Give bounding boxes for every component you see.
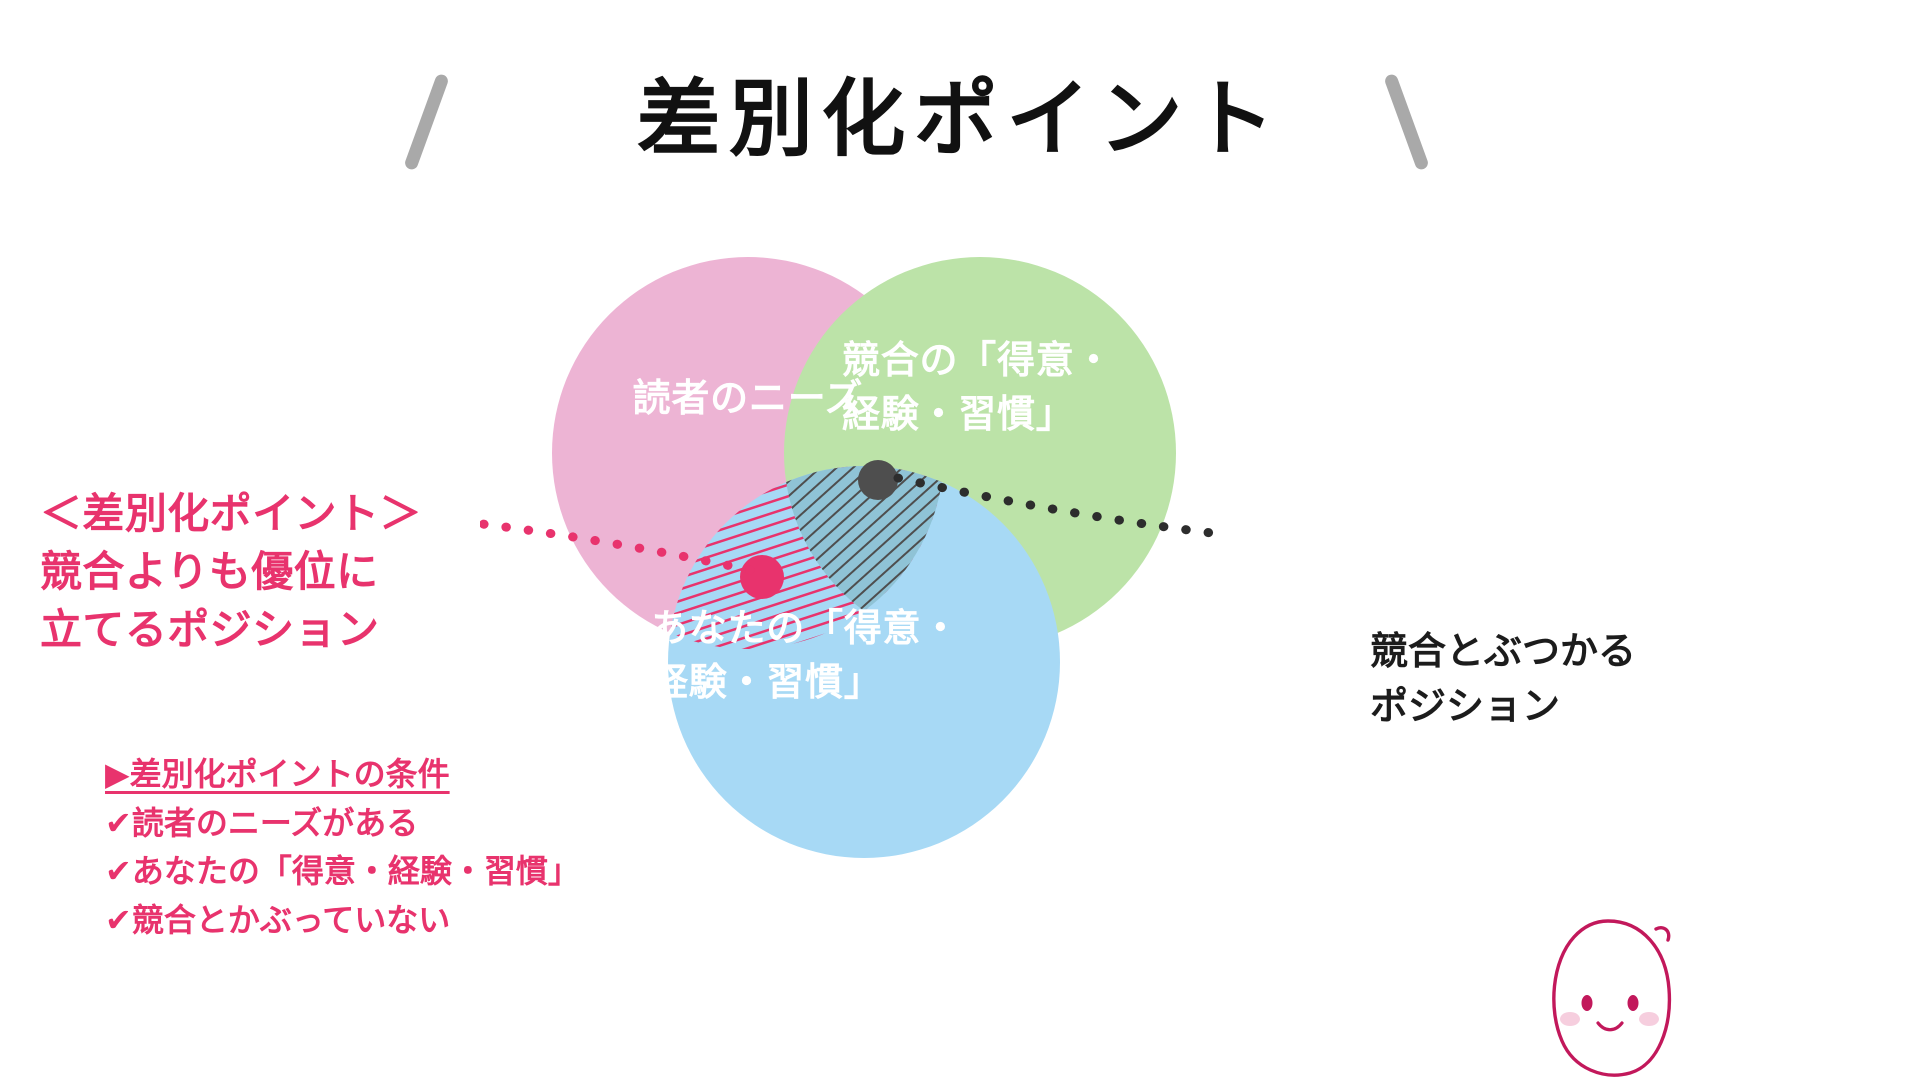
condition-item: ✔あなたの「得意・経験・習慣」 — [105, 847, 580, 896]
venn-label-competitor: 競合の「得意・ 経験・習慣」 — [842, 335, 1122, 443]
condition-item-label: あなたの「得意・経験・習慣」 — [132, 853, 580, 889]
left-annotation-line-3: 立てるポジション — [40, 601, 422, 659]
venn-label-readers-needs: 読者のニーズ — [628, 375, 868, 424]
page-title: 差別化ポイント — [0, 52, 1920, 173]
slide-canvas: 差別化ポイント — [0, 0, 1920, 1080]
mascot-character-icon — [1530, 915, 1690, 1080]
left-annotation-line-1: ＜差別化ポイント＞ — [40, 485, 422, 543]
left-annotation-line-2: 競合よりも優位に — [40, 543, 422, 601]
check-icon: ✔ — [105, 902, 132, 938]
condition-item: ✔読者のニーズがある — [105, 799, 580, 848]
left-annotation: ＜差別化ポイント＞ 競合よりも優位に 立てるポジション — [40, 485, 422, 659]
collision-marker-dot — [858, 460, 898, 500]
venn-diagram: 読者のニーズ 競合の「得意・ 経験・習慣」 あなたの「得意・ 経験・習慣」 — [480, 225, 1220, 985]
differentiation-marker-dot — [740, 555, 784, 599]
right-annotation: 競合とぶつかる ポジション — [1370, 625, 1636, 735]
condition-item-label: 読者のニーズがある — [132, 805, 418, 841]
right-annotation-line-1: 競合とぶつかる — [1370, 625, 1636, 680]
check-icon: ✔ — [105, 805, 132, 841]
conditions-heading: ▶差別化ポイントの条件 — [105, 750, 580, 799]
right-annotation-line-2: ポジション — [1370, 680, 1636, 735]
condition-item-label: 競合とかぶっていない — [132, 902, 450, 938]
condition-item: ✔競合とかぶっていない — [105, 896, 580, 945]
conditions-list: ▶差別化ポイントの条件 ✔読者のニーズがある ✔あなたの「得意・経験・習慣」 ✔… — [105, 750, 580, 945]
venn-label-you: あなたの「得意・ 経験・習慣」 — [650, 603, 950, 711]
check-icon: ✔ — [105, 853, 132, 889]
